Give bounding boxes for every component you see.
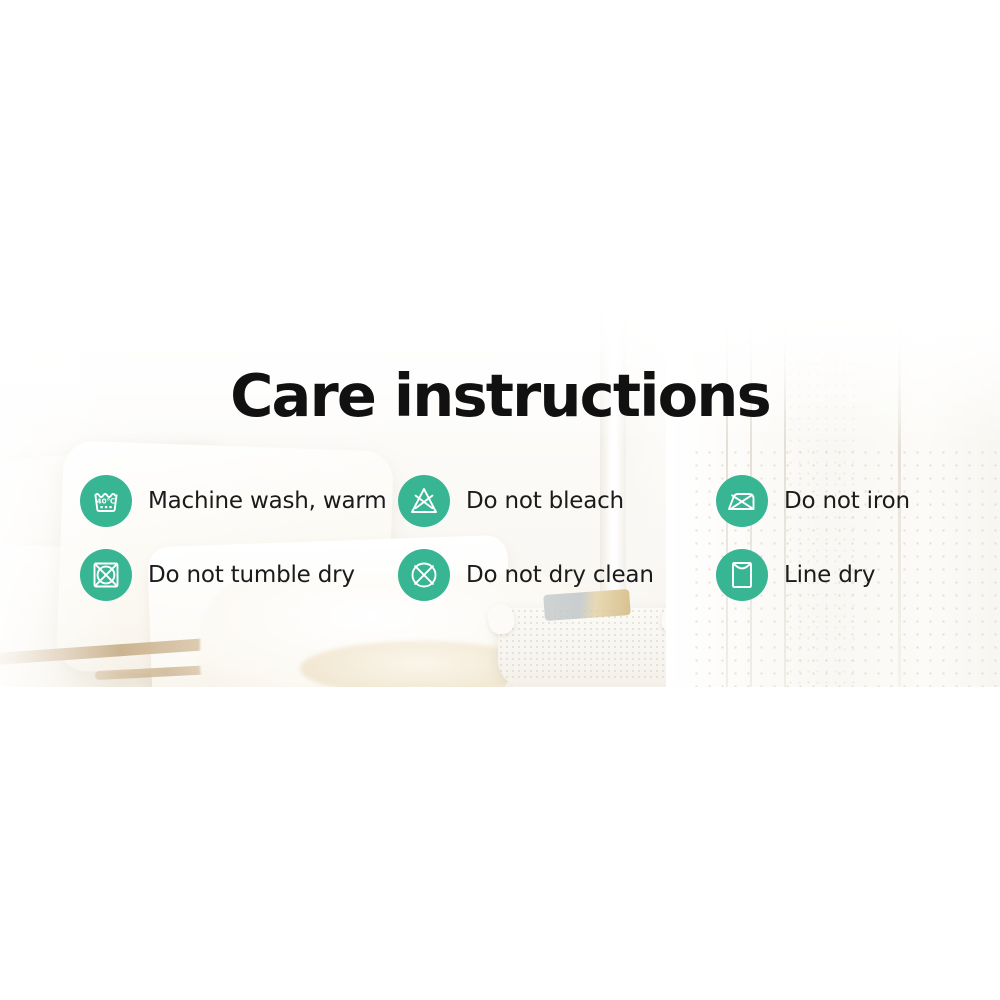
care-item-label: Do not iron [784,488,910,514]
do-not-dry-clean-icon [398,549,450,601]
care-item-label: Do not tumble dry [148,562,355,588]
do-not-bleach-icon [398,475,450,527]
do-not-iron-icon [716,475,768,527]
care-item-do-not-dry-clean: Do not dry clean [398,549,716,601]
care-item-machine-wash: 40℃ Machine wash, warm [80,475,398,527]
care-item-label: Do not dry clean [466,562,654,588]
care-item-do-not-iron: Do not iron [716,475,910,527]
care-item-label: Do not bleach [466,488,624,514]
do-not-tumble-dry-icon [80,549,132,601]
care-item-line-dry: Line dry [716,549,875,601]
line-dry-icon [716,549,768,601]
care-item-label: Machine wash, warm [148,488,386,514]
care-instructions-banner: Care instructions 40℃ [0,0,1000,1000]
care-row: 40℃ Machine wash, warm [80,475,940,549]
care-row: Do not tumble dry Do not dry clean [80,549,940,623]
care-item-do-not-tumble-dry: Do not tumble dry [80,549,398,601]
care-item-do-not-bleach: Do not bleach [398,475,716,527]
care-symbol-grid: 40℃ Machine wash, warm [80,475,940,623]
svg-text:40℃: 40℃ [97,497,116,506]
basket-base [504,680,672,687]
care-item-label: Line dry [784,562,875,588]
page-title: Care instructions [0,366,1000,426]
machine-wash-40c-icon: 40℃ [80,475,132,527]
